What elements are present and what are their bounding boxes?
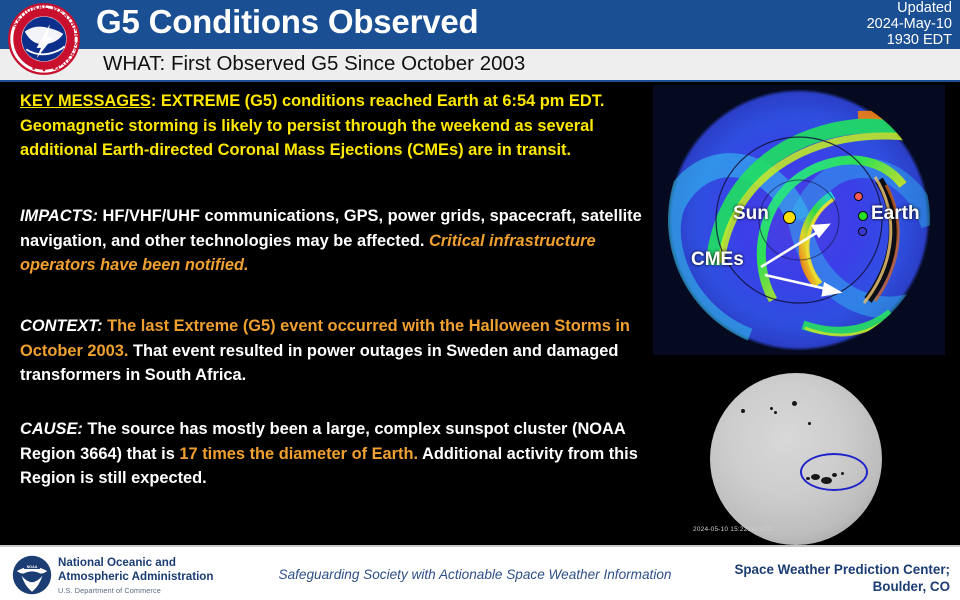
updated-stamp: Updated 2024-May-10 1930 EDT [742, 1, 952, 48]
stereo-b-marker-dot [858, 227, 867, 236]
cause-paragraph: CAUSE: The source has mostly been a larg… [20, 417, 645, 491]
cause-label: CAUSE: [20, 420, 83, 438]
page-title: G5 Conditions Observed [96, 3, 479, 41]
footer-tagline: Safeguarding Society with Actionable Spa… [245, 567, 705, 582]
earth-label: Earth [871, 203, 920, 225]
noaa-seal-icon: NOAA [12, 555, 52, 595]
key-messages-label: KEY MESSAGES [20, 92, 151, 110]
impacts-paragraph: IMPACTS: HF/VHF/UHF communications, GPS,… [20, 204, 645, 278]
noaa-agency-name: National Oceanic and Atmospheric Adminis… [58, 556, 213, 598]
footer-center-name: Space Weather Prediction Center; Boulder… [700, 561, 950, 595]
center-line-2: Boulder, CO [700, 578, 950, 595]
enlil-heliosphere-image: Sun Earth CMEs [653, 85, 945, 355]
updated-time: 1930 EDT [742, 33, 952, 49]
cmes-label: CMEs [691, 249, 744, 271]
noaa-line-1: National Oceanic and [58, 556, 213, 570]
message-panel: KEY MESSAGES: EXTREME (G5) conditions re… [0, 82, 653, 545]
earth-marker-dot [858, 211, 868, 221]
region-3664-highlight-ellipse [800, 453, 868, 491]
updated-date: 2024-May-10 [742, 17, 952, 33]
sunspot [741, 409, 745, 413]
sunspot [774, 411, 777, 414]
solar-disk-image: 2024-05-10 15:22:00 UTC [653, 363, 945, 545]
impacts-label: IMPACTS: [20, 207, 98, 225]
sunspot [792, 401, 797, 406]
cause-highlight: 17 times the diameter of Earth. [179, 445, 418, 463]
svg-text:NOAA: NOAA [27, 565, 38, 569]
context-label: CONTEXT: [20, 317, 103, 335]
sunspot [770, 407, 773, 410]
stereo-a-marker-dot [854, 192, 863, 201]
sun-marker-dot [783, 211, 796, 224]
sun-label: Sun [733, 203, 769, 225]
noaa-department: U.S. Department of Commerce [58, 584, 213, 598]
noaa-line-2: Atmospheric Administration [58, 570, 213, 584]
key-messages-paragraph: KEY MESSAGES: EXTREME (G5) conditions re… [20, 89, 645, 163]
footer-bar: NOAA National Oceanic and Atmospheric Ad… [0, 545, 960, 600]
center-line-1: Space Weather Prediction Center; [700, 561, 950, 578]
sunspot [808, 422, 811, 425]
updated-label: Updated [742, 1, 952, 17]
solar-image-timestamp: 2024-05-10 15:22:00 UTC [693, 526, 773, 533]
key-messages-colon: : [151, 92, 161, 110]
what-statement: WHAT: First Observed G5 Since October 20… [103, 52, 525, 76]
swpc-g5-alert-slide: NATIONAL WEATHER SERVICE G5 Conditions O… [0, 0, 960, 600]
national-weather-service-seal-icon: NATIONAL WEATHER SERVICE [7, 2, 81, 76]
context-paragraph: CONTEXT: The last Extreme (G5) event occ… [20, 314, 645, 388]
